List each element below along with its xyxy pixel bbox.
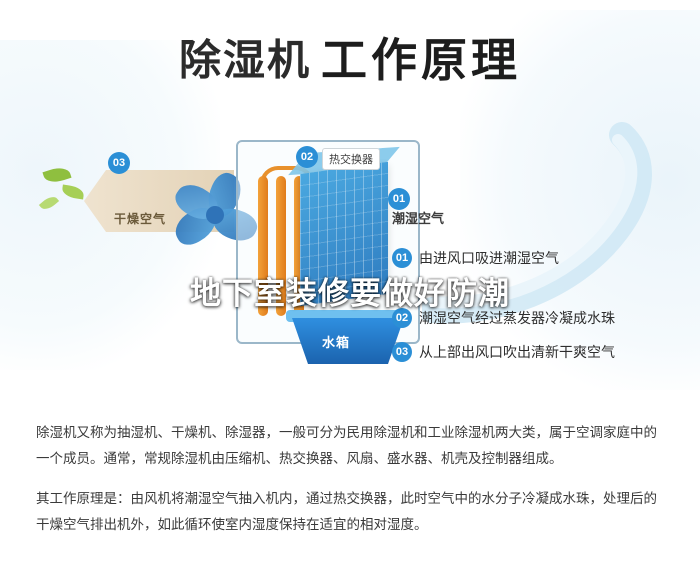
humid-air-label: 潮湿空气 xyxy=(392,208,444,227)
title-main-text: 除湿机 xyxy=(179,37,311,84)
title-accent-text: 工作原理 xyxy=(321,34,521,86)
step-text: 由进风口吸进潮湿空气 xyxy=(419,250,559,266)
badge-dry-air-03: 03 xyxy=(108,152,130,174)
coil-pipe xyxy=(276,176,286,316)
infographic-panel: 除湿机工作原理 干燥空气 03 xyxy=(0,0,700,400)
article-body: 除湿机又称为抽湿机、干燥机、除湿器，一般可分为民用除湿机和工业除湿机两大类，属于… xyxy=(36,420,664,552)
step-number: 03 xyxy=(392,342,412,362)
evaporator-block xyxy=(300,162,388,306)
airflow-swoosh-icon xyxy=(422,120,682,330)
coil-pipe xyxy=(258,176,268,316)
step-item-01: 01由进风口吸进潮湿空气 xyxy=(392,248,559,268)
article-paragraph-1: 除湿机又称为抽湿机、干燥机、除湿器，一般可分为民用除湿机和工业除湿机两大类，属于… xyxy=(36,420,664,472)
heat-exchanger-chip-label: 热交换器 xyxy=(322,148,380,170)
step-item-03: 03从上部出风口吹出清新干爽空气 xyxy=(392,342,615,362)
badge-heat-exchanger-02: 02 xyxy=(296,146,318,168)
badge-humid-air-01: 01 xyxy=(388,188,410,210)
article-paragraph-2: 其工作原理是：由风机将潮湿空气抽入机内，通过热交换器，此时空气中的水分子冷凝成水… xyxy=(36,486,664,538)
step-item-02: 02潮湿空气经过蒸发器冷凝成水珠 xyxy=(392,308,615,328)
evaporator-fins xyxy=(300,162,388,306)
page-root: 除湿机工作原理 干燥空气 03 xyxy=(0,0,700,566)
dry-air-label: 干燥空气 xyxy=(114,210,166,227)
step-text: 从上部出风口吹出清新干爽空气 xyxy=(419,344,615,360)
step-number: 02 xyxy=(392,308,412,328)
fan-hub xyxy=(206,206,224,224)
water-tank-label: 水箱 xyxy=(322,332,350,351)
step-number: 01 xyxy=(392,248,412,268)
infographic-title: 除湿机工作原理 xyxy=(0,24,700,90)
step-text: 潮湿空气经过蒸发器冷凝成水珠 xyxy=(419,310,615,326)
